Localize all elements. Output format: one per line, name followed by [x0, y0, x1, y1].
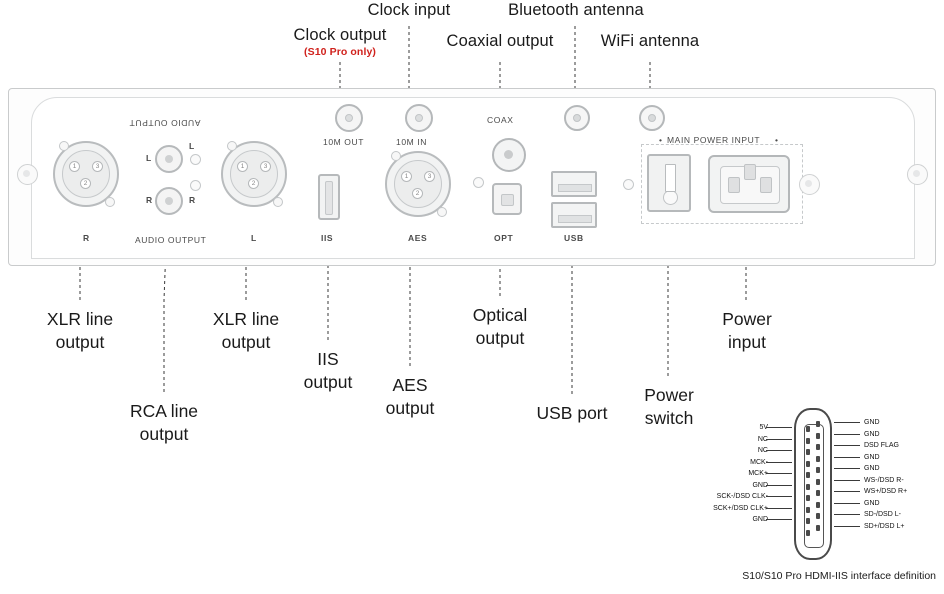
- hdmi-pin-leader-left: [766, 450, 792, 451]
- silk-aes: AES: [408, 233, 427, 243]
- hdmi-pin-label-right: GND: [864, 465, 880, 473]
- hdmi-pin-label-right: DSD FLAG: [864, 442, 899, 450]
- power-input-iec-socket[interactable]: [708, 155, 790, 213]
- hdmi-pin-label-left: MCK-: [750, 459, 768, 467]
- coax-screw: [473, 177, 484, 188]
- callout-power-input-line1: Power: [690, 308, 804, 331]
- callout-clock-input-label: Clock input: [368, 1, 451, 19]
- xlr-right-pin-3: 3: [92, 161, 103, 172]
- hdmi-pin-leader-right: [834, 503, 860, 504]
- rca-screw-right: [190, 180, 201, 191]
- callout-rca-line1: RCA line: [104, 400, 224, 423]
- xlr-left-pin-3: 3: [260, 161, 271, 172]
- hdmi-pin-dot: [806, 530, 810, 536]
- wifi-antenna-jack[interactable]: [639, 105, 665, 131]
- rca-screw-left: [190, 154, 201, 165]
- hdmi-pin-label-right: SD-/DSD L-: [864, 511, 901, 519]
- aes-lug-bottom: [437, 207, 447, 217]
- callout-coaxial-output-label: Coaxial output: [447, 32, 554, 50]
- hdmi-pin-dot: [806, 438, 810, 444]
- silk-rca-r-out: R: [189, 195, 196, 205]
- callout-power-input-line2: input: [690, 331, 804, 354]
- hdmi-pin-leader-left: [766, 439, 792, 440]
- silk-rca-l-in: L: [146, 153, 152, 163]
- callout-coaxial-output: Coaxial output: [430, 32, 570, 51]
- callout-aes-line2: output: [360, 397, 460, 420]
- usb-port-upper[interactable]: [551, 171, 597, 197]
- hdmi-pin-leader-left: [766, 485, 792, 486]
- callout-clock-input: Clock input: [344, 1, 474, 20]
- callout-clock-output-sublabel: (S10 Pro only): [275, 46, 405, 58]
- hdmi-pin-dot: [816, 456, 820, 462]
- callout-clock-output-label: Clock output: [294, 26, 387, 44]
- hdmi-pin-dot: [806, 484, 810, 490]
- xlr-right-lug-top: [59, 141, 69, 151]
- callout-optical-line1: Optical: [440, 304, 560, 327]
- hdmi-pin-dot: [806, 449, 810, 455]
- chassis-screw-right: [907, 164, 928, 185]
- hdmi-pin-label-left: NC: [758, 436, 768, 444]
- callout-iis-line1: IIS: [278, 348, 378, 371]
- hdmi-pin-leader-right: [834, 480, 860, 481]
- silk-xlr-left: L: [251, 233, 257, 243]
- aes-lug-top: [391, 151, 401, 161]
- hdmi-pin-leader-right: [834, 422, 860, 423]
- hdmi-pin-dot: [816, 525, 820, 531]
- hdmi-pin-label-left: MCK+: [748, 470, 768, 478]
- power-switch-rocker[interactable]: [647, 154, 691, 212]
- silk-10m-out: 10M OUT: [323, 137, 364, 147]
- aes-output-xlr[interactable]: 1 3 2: [385, 151, 451, 217]
- bluetooth-antenna-jack[interactable]: [564, 105, 590, 131]
- xlr-right-pin-1: 1: [69, 161, 80, 172]
- hdmi-pin-dot: [806, 461, 810, 467]
- callout-power-input: Power input: [690, 308, 804, 354]
- hdmi-iis-pinout-diagram: 5VNCNCMCK-MCK+GNDSCK-/DSD CLK-SCK+/DSD C…: [688, 398, 936, 588]
- silk-opt: OPT: [494, 233, 513, 243]
- hdmi-pin-leader-left: [766, 473, 792, 474]
- hdmi-pin-label-right: GND: [864, 500, 880, 508]
- power-panel-screw: [799, 174, 820, 195]
- xlr-right-pin-2: 2: [80, 178, 91, 189]
- rear-panel-chassis: AUDIO OUTPUT AUDIO OUTPUT 1 3 2 R L L R …: [8, 88, 936, 266]
- silk-iis: IIS: [321, 233, 333, 243]
- hdmi-pin-dot: [806, 472, 810, 478]
- hdmi-pin-label-left: SCK-/DSD CLK-: [717, 493, 768, 501]
- silk-coax: COAX: [487, 115, 514, 125]
- xlr-left-lug-top: [227, 141, 237, 151]
- xlr-left-pin-2: 2: [248, 178, 259, 189]
- hdmi-pin-dot: [816, 479, 820, 485]
- pinout-caption: S10/S10 Pro HDMI-IIS interface definitio…: [688, 570, 936, 582]
- optical-output-port[interactable]: [492, 183, 522, 215]
- hdmi-pin-dot: [816, 421, 820, 427]
- xlr-left-ring: 1 3 2: [230, 150, 278, 198]
- power-fuse-screw: [623, 179, 634, 190]
- callout-xlr-line-output-r: XLR line output: [20, 308, 140, 354]
- xlr-output-right[interactable]: 1 3 2: [53, 141, 119, 207]
- hdmi-pin-leader-right: [834, 514, 860, 515]
- silk-10m-in: 10M IN: [396, 137, 427, 147]
- callout-rca-line2: output: [104, 423, 224, 446]
- silk-main-power-input: MAIN POWER INPUT: [667, 135, 760, 145]
- iec-pin-slot-left: [728, 177, 740, 193]
- hdmi-pin-label-left: 5V: [759, 424, 768, 432]
- hdmi-pin-leader-right: [834, 468, 860, 469]
- xlr-left-pin-1: 1: [237, 161, 248, 172]
- silk-rca-r-in: R: [146, 195, 153, 205]
- hdmi-pin-dot: [806, 426, 810, 432]
- hdmi-pin-leader-right: [834, 457, 860, 458]
- hdmi-pin-label-left: NC: [758, 447, 768, 455]
- callout-bluetooth-antenna-label: Bluetooth antenna: [508, 1, 644, 19]
- aes-pin-2: 2: [412, 188, 423, 199]
- iec-pin-slot-right: [760, 177, 772, 193]
- rca-output-left[interactable]: [155, 145, 183, 173]
- hdmi-pin-label-left: GND: [752, 482, 768, 490]
- callout-wifi-antenna-label: WiFi antenna: [601, 32, 699, 50]
- xlr-left-lug-bottom: [273, 197, 283, 207]
- clock-input-10m-in-jack[interactable]: [405, 104, 433, 132]
- rca-output-right[interactable]: [155, 187, 183, 215]
- hdmi-pin-label-right: SD+/DSD L+: [864, 523, 904, 531]
- callout-optical-line2: output: [440, 327, 560, 350]
- callout-xlr-r-line1: XLR line: [20, 308, 140, 331]
- callout-aes-line1: AES: [360, 374, 460, 397]
- hdmi-pin-dot: [816, 444, 820, 450]
- hdmi-pin-dot: [816, 502, 820, 508]
- silk-audio-output-top: AUDIO OUTPUT: [129, 118, 200, 128]
- silk-usb: USB: [564, 233, 584, 243]
- usb-port-block: [551, 171, 597, 233]
- xlr-output-left[interactable]: 1 3 2: [221, 141, 287, 207]
- aes-ring: 1 3 2: [394, 160, 442, 208]
- callout-aes-output: AES output: [360, 374, 460, 420]
- callout-bluetooth-antenna: Bluetooth antenna: [481, 1, 671, 20]
- aes-pin-1: 1: [401, 171, 412, 182]
- callout-xlr-l-line1: XLR line: [186, 308, 306, 331]
- xlr-right-ring: 1 3 2: [62, 150, 110, 198]
- hdmi-pin-label-right: GND: [864, 454, 880, 462]
- hdmi-pin-leader-left: [766, 496, 792, 497]
- usb-port-lower[interactable]: [551, 202, 597, 228]
- hdmi-pin-label-right: GND: [864, 419, 880, 427]
- chassis-screw-left: [17, 164, 38, 185]
- xlr-right-lug-bottom: [105, 197, 115, 207]
- hdmi-pin-leader-right: [834, 526, 860, 527]
- hdmi-pin-label-right: GND: [864, 431, 880, 439]
- hdmi-pin-dot: [816, 490, 820, 496]
- hdmi-pin-leader-left: [766, 508, 792, 509]
- callout-rca-line-output: RCA line output: [104, 400, 224, 446]
- power-switch-indicator: [663, 190, 678, 205]
- aes-pin-3: 3: [424, 171, 435, 182]
- hdmi-pin-leader-right: [834, 445, 860, 446]
- hdmi-pin-label-left: GND: [752, 516, 768, 524]
- callout-optical-output: Optical output: [440, 304, 560, 350]
- hdmi-pin-dot: [816, 467, 820, 473]
- callout-wifi-antenna: WiFi antenna: [583, 32, 717, 51]
- hdmi-pin-label-left: SCK+/DSD CLK+: [713, 505, 768, 513]
- silk-audio-output-bottom: AUDIO OUTPUT: [135, 235, 206, 245]
- hdmi-pin-dot: [816, 513, 820, 519]
- callout-clock-output: Clock output (S10 Pro only): [275, 26, 405, 58]
- hdmi-connector-shell: [794, 408, 832, 560]
- clock-output-10m-out-jack[interactable]: [335, 104, 363, 132]
- iis-hdmi-port[interactable]: [318, 174, 340, 220]
- hdmi-pin-label-right: WS-/DSD R-: [864, 477, 904, 485]
- iec-pin-slot-ground: [744, 164, 756, 180]
- silk-rca-l-out: L: [189, 141, 195, 151]
- hdmi-pin-leader-left: [766, 427, 792, 428]
- hdmi-pin-label-right: WS+/DSD R+: [864, 488, 907, 496]
- coaxial-output-jack[interactable]: [492, 138, 526, 172]
- silk-xlr-right: R: [83, 233, 90, 243]
- silk-power-dot-left: •: [659, 135, 663, 145]
- hdmi-pin-dot: [806, 518, 810, 524]
- silk-power-dot-right: •: [775, 135, 779, 145]
- hdmi-pin-dot: [816, 433, 820, 439]
- hdmi-pin-dot: [806, 495, 810, 501]
- hdmi-pin-dot: [806, 507, 810, 513]
- hdmi-pin-leader-right: [834, 434, 860, 435]
- hdmi-pin-leader-right: [834, 491, 860, 492]
- hdmi-pin-leader-left: [766, 519, 792, 520]
- hdmi-pin-leader-left: [766, 462, 792, 463]
- callout-xlr-r-line2: output: [20, 331, 140, 354]
